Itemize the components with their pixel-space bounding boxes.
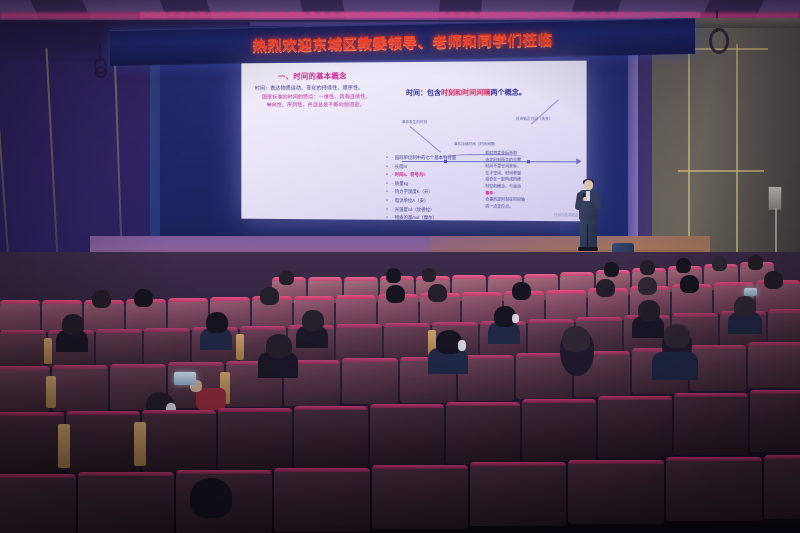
slide-title: 一、时间的基本概念 bbox=[278, 70, 347, 81]
seat bbox=[384, 323, 430, 361]
audience-head bbox=[428, 284, 447, 302]
hanging-hook-icon bbox=[95, 66, 107, 78]
audience-head bbox=[206, 312, 228, 333]
audience-head bbox=[512, 282, 531, 300]
audience-head bbox=[664, 324, 690, 348]
timeline-label-mid: 事件持续时间（时间间隔） bbox=[454, 142, 498, 147]
audience-head bbox=[266, 334, 292, 358]
audience-head bbox=[676, 258, 691, 273]
seat bbox=[0, 474, 76, 533]
audience-head bbox=[748, 255, 763, 270]
paragraph-line: 的一点定位点。 bbox=[485, 203, 573, 210]
seat bbox=[96, 329, 142, 367]
audience-head bbox=[386, 285, 405, 303]
seat bbox=[142, 410, 216, 472]
presenter-shoes bbox=[578, 247, 598, 251]
slide-right-paragraph: 相对特定坐标系和 选定时刻而言的位置 时间不是空间坐标， 在子空间、时间参量 组… bbox=[485, 150, 573, 210]
seat bbox=[666, 457, 762, 521]
timeline-label-left: 事件发生的时刻 bbox=[402, 120, 427, 125]
seat bbox=[336, 295, 376, 327]
list-item: · 时间s、符号为t bbox=[386, 171, 456, 180]
audience-head bbox=[92, 290, 111, 308]
presenter-head bbox=[584, 180, 593, 190]
audience-head bbox=[596, 279, 615, 297]
presenter-hand bbox=[583, 197, 587, 201]
wall-panel-line bbox=[678, 170, 764, 172]
audience-head bbox=[302, 310, 324, 331]
seat bbox=[522, 399, 596, 461]
audience-head bbox=[562, 326, 590, 352]
seat bbox=[274, 468, 370, 532]
audience-head bbox=[190, 478, 232, 518]
seat bbox=[218, 408, 292, 470]
seat bbox=[66, 411, 140, 473]
seat bbox=[52, 365, 108, 411]
audience-head bbox=[638, 300, 660, 321]
timeline-leader-line bbox=[410, 126, 441, 153]
auditorium-photo: 热烈欢迎东城区教委领导、老师和同学们莅临 一、时间的基本概念 时间：表达物质运动… bbox=[0, 0, 800, 533]
wall-electrical-box bbox=[768, 186, 782, 210]
seat bbox=[748, 342, 800, 388]
list-item: · 长度m bbox=[386, 163, 456, 172]
list-item: · 热力学温度K（开） bbox=[386, 188, 456, 197]
slide-right-heading: 时间：包含时刻和时间间隔两个概念。 bbox=[406, 87, 526, 98]
seat bbox=[372, 465, 468, 529]
seat bbox=[78, 472, 174, 533]
armrest bbox=[134, 422, 146, 466]
banner-text: 热烈欢迎东城区教委领导、老师和同学们莅临 bbox=[253, 28, 553, 55]
audience-head bbox=[422, 268, 436, 282]
hanging-hook-icon bbox=[709, 28, 729, 54]
seat bbox=[294, 406, 368, 468]
heading-prefix: 时间：包含 bbox=[406, 90, 441, 97]
slide-bullet-1: · 国家标准的时间的特点：一维性、具有连续性、 bbox=[259, 93, 371, 100]
slide-bullet-2: 单向性、序列性，并且总是不断向前流逝。 bbox=[266, 101, 364, 108]
seat bbox=[446, 402, 520, 464]
audience-head bbox=[712, 256, 727, 271]
seat bbox=[342, 358, 398, 404]
audience-head bbox=[604, 262, 619, 277]
slide-bullet-list: · 国际单位制中的七个基本物理量 · 长度m · 时间s、符号为t · 质量kg… bbox=[386, 154, 456, 221]
seat bbox=[0, 366, 50, 412]
seat bbox=[168, 298, 208, 330]
audience-head bbox=[134, 289, 153, 307]
audience-head bbox=[62, 314, 84, 335]
seat bbox=[470, 462, 566, 526]
phone-screen bbox=[174, 372, 196, 385]
audience-red-sleeve bbox=[196, 388, 226, 410]
seat bbox=[568, 460, 664, 524]
audience-head bbox=[260, 287, 279, 305]
wall-conduit bbox=[775, 208, 777, 254]
audience-head bbox=[680, 275, 699, 293]
seat bbox=[336, 324, 382, 362]
seat bbox=[0, 330, 46, 368]
armrest bbox=[236, 334, 244, 360]
seat bbox=[370, 404, 444, 466]
list-item: · 质量kg bbox=[386, 180, 456, 189]
seat bbox=[144, 328, 190, 366]
presenter bbox=[575, 180, 601, 252]
seat bbox=[598, 396, 672, 458]
audience-head bbox=[734, 296, 756, 317]
audience-head bbox=[638, 277, 657, 295]
heading-accent: 时刻和时间间隔 bbox=[441, 90, 490, 97]
presenter-leg-split bbox=[587, 224, 588, 249]
armrest bbox=[46, 376, 56, 408]
audience-head bbox=[640, 260, 655, 275]
audience-head bbox=[279, 270, 294, 285]
armrest bbox=[44, 338, 52, 364]
list-item: · 国际单位制中的七个基本物理量 bbox=[386, 154, 456, 163]
armrest bbox=[58, 424, 70, 468]
seat bbox=[764, 455, 800, 519]
face-mask bbox=[512, 314, 519, 323]
heading-suffix: 两个概念。 bbox=[490, 89, 526, 96]
audience-head bbox=[386, 268, 401, 283]
slide-bullet-intro: 时间：表达物质运动、变化的持续性、顺序性。 bbox=[255, 84, 364, 92]
seat bbox=[750, 390, 800, 452]
seat bbox=[690, 345, 746, 391]
timeline-label-right: 时间轴正方向（未来） bbox=[516, 117, 553, 122]
presenter-trousers bbox=[580, 219, 597, 249]
ceiling-light-strip-detail bbox=[140, 12, 700, 18]
backdrop-edge-highlight bbox=[628, 52, 638, 247]
seat bbox=[0, 412, 64, 474]
audience-head bbox=[764, 271, 783, 289]
timeline-arrow-icon bbox=[576, 158, 581, 164]
face-mask bbox=[458, 340, 466, 351]
seat bbox=[0, 300, 40, 332]
seat bbox=[674, 393, 748, 455]
projection-screen: 一、时间的基本概念 时间：表达物质运动、变化的持续性、顺序性。 · 国家标准的时… bbox=[241, 61, 586, 222]
audience-shoulders bbox=[652, 352, 698, 380]
phone-screen bbox=[744, 288, 757, 296]
